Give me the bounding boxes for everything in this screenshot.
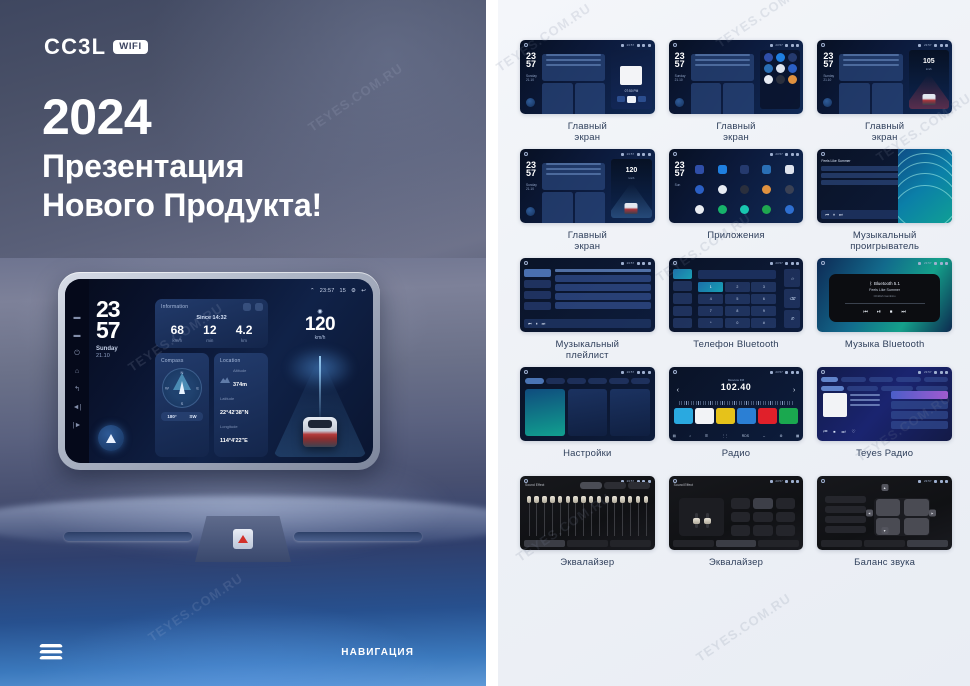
latitude-label: Latitude xyxy=(220,396,262,401)
back-icon[interactable] xyxy=(796,371,799,374)
call-actions[interactable]: ☆ ⌫ ✆ xyxy=(784,269,800,328)
dialpad-key[interactable]: 4 xyxy=(698,294,723,304)
eq-band-slider[interactable] xyxy=(635,496,641,536)
dialpad-key[interactable]: * xyxy=(698,318,723,328)
previous-icon[interactable]: ⏮ xyxy=(863,309,868,315)
home-icon[interactable]: ⌂ xyxy=(75,368,79,375)
home-icon[interactable] xyxy=(673,43,677,47)
dialpad-key[interactable]: 6 xyxy=(751,294,776,304)
previous-icon[interactable]: ⏮ xyxy=(823,429,827,435)
gallery-item[interactable]: 23:57 Sound Effect Эквалайзер xyxy=(520,476,655,583)
longitude-value: 114°4'22"E xyxy=(220,438,248,444)
dialpad-key[interactable]: 1 xyxy=(698,282,723,292)
compass-card[interactable]: Compass N E S W xyxy=(155,353,209,457)
eq-icon[interactable]: ⋮⋮ xyxy=(721,434,728,438)
gallery-item[interactable]: 23:57 Feels Like Summer ⏮ ⏸ ⏭ Музыкальны… xyxy=(817,149,952,256)
playlist-sidebar[interactable] xyxy=(524,269,551,310)
app-icon[interactable] xyxy=(762,205,771,214)
info-cards xyxy=(542,51,605,114)
settings-tiles[interactable] xyxy=(525,389,650,436)
gear-icon[interactable] xyxy=(791,153,794,156)
grid-icon[interactable]: ▦ xyxy=(796,434,799,438)
head-unit-screen[interactable]: ▬ ▬ ⏻ ⌂ ↰ ◄| |► ⌃ 23:57 15 xyxy=(65,279,373,463)
stop-icon[interactable]: ⏹ xyxy=(833,429,835,435)
rds-icon[interactable]: RDS xyxy=(742,434,749,438)
information-card[interactable]: Information Since 14:32 xyxy=(155,299,268,348)
app-icon[interactable] xyxy=(740,205,749,214)
back-icon[interactable] xyxy=(648,371,651,374)
eq-band-slider[interactable] xyxy=(627,496,633,536)
eq-band-slider[interactable] xyxy=(526,496,532,536)
status-bar: 23:57 xyxy=(770,43,800,47)
playback-controls[interactable]: ⏮ ⏹ ⏭ ♡ xyxy=(823,429,855,435)
volume-icon xyxy=(785,262,788,265)
app-icon[interactable] xyxy=(785,165,794,174)
volume-icon xyxy=(934,371,937,374)
gear-icon[interactable] xyxy=(791,371,794,374)
eq-presets[interactable] xyxy=(580,482,650,489)
balance-presets[interactable] xyxy=(825,496,865,536)
status-bar: 23:57 xyxy=(621,370,651,374)
hud-speed-unit: km/h xyxy=(611,177,651,180)
thumbnail-screen[interactable]: 23:57 2357 Sunday21.10 120 km/h xyxy=(520,149,655,223)
hud-widget[interactable]: ◉ 120 km/h xyxy=(274,299,366,457)
previous-icon[interactable]: ⏮ xyxy=(528,321,532,326)
back-icon[interactable] xyxy=(648,44,651,47)
dashboard-photo: ▬ ▬ ⏻ ⌂ ↰ ◄| |► ⌃ 23:57 15 xyxy=(0,258,486,686)
band-icon[interactable]: ▤ xyxy=(673,434,676,438)
gear-icon[interactable]: ⚙ xyxy=(351,288,356,294)
track-list[interactable] xyxy=(555,269,651,309)
app-icon[interactable] xyxy=(776,64,785,73)
app-icon[interactable] xyxy=(776,53,785,62)
status-bar: 23:57 xyxy=(621,43,651,47)
hud-speed: 105 xyxy=(909,58,949,65)
gallery-item-caption: Главныйэкран xyxy=(865,121,904,147)
car-illustration xyxy=(625,203,638,214)
dialpad-key[interactable]: 0 xyxy=(725,318,750,328)
eq-band-slider[interactable] xyxy=(557,496,563,536)
gallery-item[interactable]: 23:57 ⏮ ⏹ ⏭ ♡Teyes Радио xyxy=(817,367,952,474)
home-icon[interactable] xyxy=(524,261,528,265)
clock-widget: 2357 xyxy=(675,161,685,178)
clock-minutes: 57 xyxy=(96,320,149,341)
back-icon[interactable] xyxy=(945,262,948,265)
gear-icon[interactable] xyxy=(791,44,794,47)
hardware-button-rail[interactable]: ▬ ▬ ⏻ ⌂ ↰ ◄| |► xyxy=(65,279,89,463)
volume-icon xyxy=(637,44,640,47)
previous-icon[interactable]: ⏮ xyxy=(825,212,829,217)
dialpad-key[interactable]: # xyxy=(751,318,776,328)
app-grid[interactable] xyxy=(689,159,801,219)
balance-left-icon[interactable]: ◂ xyxy=(866,510,873,517)
status-bar: 23:57 xyxy=(621,152,651,156)
status-bar: ⌃ 23:57 15 ⚙ ↩ xyxy=(96,285,366,296)
app-icon[interactable] xyxy=(740,165,749,174)
wifi-icon xyxy=(770,44,773,47)
volume-icon xyxy=(785,44,788,47)
gallery-item[interactable]: 23:57 ᛒ Bluetooth 5.1 Feels Like Summer … xyxy=(817,258,952,365)
gallery-item[interactable]: 23:57 ▴ ▾ ◂ ▸ Баланс звука xyxy=(817,476,952,583)
app-icon[interactable] xyxy=(764,64,773,73)
status-bar: 23:57 xyxy=(918,43,948,47)
gallery-item[interactable]: 23:57 2357 Sunday21.10 105 km/h Главныйэ… xyxy=(817,40,952,147)
app-icon[interactable] xyxy=(762,185,771,194)
pause-icon[interactable]: ⏸ xyxy=(833,212,835,217)
app-icon[interactable] xyxy=(776,75,785,84)
stat-time: 12 min xyxy=(203,324,216,343)
wifi-icon xyxy=(770,371,773,374)
thumbnail-screen[interactable]: 23:57 2357 Sunday21.10 xyxy=(669,40,804,114)
stop-icon[interactable]: ⏹ xyxy=(890,309,893,315)
eq-band-slider[interactable] xyxy=(534,496,540,536)
app-icon[interactable] xyxy=(764,53,773,62)
wifi-icon xyxy=(621,371,624,374)
eq-band-slider[interactable] xyxy=(565,496,571,536)
status-bar: 23:57 xyxy=(918,261,948,265)
headline-line1: Презентация xyxy=(42,147,322,186)
app-icon[interactable] xyxy=(788,64,797,73)
dialpad-key[interactable]: 5 xyxy=(725,294,750,304)
eq-band-slider[interactable] xyxy=(620,496,626,536)
navigation-button[interactable] xyxy=(526,98,535,107)
gear-icon[interactable] xyxy=(642,371,645,374)
expand-icon[interactable] xyxy=(255,303,263,311)
gallery-item[interactable]: 23:57 123456789*0# ☆ ⌫ ✆Телефон Bluetoot… xyxy=(669,258,804,365)
settings-icon[interactable]: ⚙ xyxy=(779,434,782,438)
next-icon[interactable]: ⏭ xyxy=(542,321,546,326)
clock-widget: 2357 xyxy=(823,52,833,69)
app-icon[interactable] xyxy=(785,185,794,194)
eq-preset-button[interactable] xyxy=(776,498,796,509)
refresh-icon[interactable] xyxy=(243,303,251,311)
thumbnail-screen[interactable]: 23:57 ⏮ ⏹ ⏭ ♡ xyxy=(817,367,952,441)
navigation-button[interactable] xyxy=(823,98,832,107)
gallery-item-caption: Главныйэкран xyxy=(716,121,755,147)
compass-point-w: W xyxy=(165,386,169,391)
play-pause-icon[interactable]: ⏯ xyxy=(877,309,881,315)
home-icon[interactable] xyxy=(673,370,677,374)
dialpad-key[interactable]: 7 xyxy=(698,306,723,316)
eq-tabs[interactable] xyxy=(821,540,948,547)
wifi-tile[interactable] xyxy=(525,389,565,436)
app-icon[interactable] xyxy=(718,205,727,214)
volume-icon xyxy=(785,371,788,374)
eq-tabs[interactable] xyxy=(673,540,800,547)
home-icon[interactable] xyxy=(524,152,528,156)
back-icon[interactable] xyxy=(648,153,651,156)
preset-stations[interactable] xyxy=(674,408,799,424)
next-icon[interactable]: ⏭ xyxy=(839,212,843,217)
gallery-item-caption: Радио xyxy=(722,448,750,474)
balance-right-icon[interactable]: ▸ xyxy=(929,510,936,517)
pause-icon[interactable]: ⏸ xyxy=(536,321,538,326)
more-tile[interactable] xyxy=(610,389,650,436)
back-icon[interactable] xyxy=(945,371,948,374)
eq-preset-button[interactable] xyxy=(753,525,773,536)
wifi-icon xyxy=(770,262,773,265)
eq-preset-button[interactable] xyxy=(753,498,773,509)
app-icon[interactable] xyxy=(788,75,797,84)
eq-band-slider[interactable] xyxy=(643,496,649,536)
list-icon[interactable]: ☰ xyxy=(705,434,708,438)
compass-point-e: E xyxy=(196,386,199,391)
phone-tabs[interactable] xyxy=(673,269,692,328)
gallery-item-caption: Музыкальныйплейлист xyxy=(555,339,619,365)
back-icon[interactable] xyxy=(648,262,651,265)
effect-buttons[interactable] xyxy=(731,498,796,536)
eq-band-slider[interactable] xyxy=(604,496,610,536)
eq-band-slider[interactable] xyxy=(542,496,548,536)
frequency-scale[interactable] xyxy=(679,401,794,405)
home-icon[interactable] xyxy=(821,152,825,156)
wifi-icon xyxy=(621,262,624,265)
wifi-badge: WIFI xyxy=(113,40,147,55)
back-icon[interactable] xyxy=(796,262,799,265)
app-icon[interactable] xyxy=(695,165,704,174)
compass-point-n: N xyxy=(181,370,184,375)
gallery-item-caption: Приложения xyxy=(707,230,765,256)
fader-sliders[interactable] xyxy=(679,498,725,536)
navigation-button[interactable] xyxy=(526,207,535,216)
app-icon[interactable] xyxy=(695,185,704,194)
hud-speed-unit: km/h xyxy=(909,68,949,71)
category-tabs[interactable] xyxy=(821,377,948,382)
thumbnail-screen[interactable]: 23:57 Feels Like Summer ⏮ ⏸ ⏭ xyxy=(817,149,952,223)
home-icon[interactable] xyxy=(821,479,825,483)
compass-dial: N E S W xyxy=(162,368,202,408)
clock-date: Sunday21.10 xyxy=(526,183,537,191)
home-icon[interactable] xyxy=(821,261,825,265)
gallery-item[interactable]: 23:57 Moscow FM 102.40 ‹ › ▤ ⌕ ☰ ⋮⋮ RDS … xyxy=(669,367,804,474)
playback-controls[interactable]: ⏮ ⏯ ⏹ ⏭ xyxy=(863,309,906,315)
thumbnail-screen[interactable]: 23:57 123456789*0# ☆ ⌫ ✆ xyxy=(669,258,804,332)
gear-icon[interactable] xyxy=(642,44,645,47)
thumbnail-screen[interactable]: 23:57 Moscow FM 102.40 ‹ › ▤ ⌕ ☰ ⋮⋮ RDS … xyxy=(669,367,804,441)
location-card[interactable]: Location Altitude 374m xyxy=(214,353,268,457)
balance-up-icon[interactable]: ▴ xyxy=(881,484,888,491)
eq-preset-button[interactable] xyxy=(731,512,751,523)
backspace-icon[interactable]: ⌫ xyxy=(784,289,800,307)
watermark: TEYES.COM.RU xyxy=(693,590,793,664)
app-icon[interactable] xyxy=(740,185,749,194)
station-logo[interactable] xyxy=(716,408,735,424)
status-bar: 23:57 xyxy=(770,479,800,483)
hazard-triangle-icon xyxy=(238,535,248,543)
eq-band-slider[interactable] xyxy=(612,496,618,536)
dialpad[interactable]: 123456789*0# xyxy=(698,282,776,328)
gallery-item[interactable]: 23:57 2357 Sun Приложения xyxy=(669,149,804,256)
app-icon[interactable] xyxy=(788,53,797,62)
gallery-item[interactable]: 23:57 Настройки xyxy=(520,367,655,474)
app-shortcuts[interactable] xyxy=(760,50,800,109)
eq-preset-button[interactable] xyxy=(731,525,751,536)
gear-icon[interactable] xyxy=(940,480,943,483)
home-icon[interactable] xyxy=(673,261,677,265)
eq-band-slider[interactable] xyxy=(573,496,579,536)
clock-date: 21.10 xyxy=(96,353,149,359)
eq-title: Sound Effect xyxy=(674,483,693,487)
volume-icon xyxy=(934,480,937,483)
gallery-item[interactable]: 23:57 ⏮ ⏸ ⏭Музыкальныйплейлист xyxy=(520,258,655,365)
eject-icon[interactable]: ▬ xyxy=(74,332,81,339)
gear-icon[interactable] xyxy=(791,262,794,265)
back-icon[interactable] xyxy=(796,480,799,483)
thumbnail-screen[interactable]: 23:57 Sound Effect xyxy=(669,476,804,550)
carplay-tile[interactable] xyxy=(568,389,608,436)
back-icon[interactable] xyxy=(945,44,948,47)
clock-date: Sun xyxy=(675,183,681,187)
back-icon[interactable] xyxy=(796,153,799,156)
gallery-item[interactable]: 23:57 Sound Effect Эквалайзер xyxy=(669,476,804,583)
latitude-value: 22°42'38"N xyxy=(220,410,248,416)
eq-band-slider[interactable] xyxy=(588,496,594,536)
seek-down-icon[interactable]: ‹ xyxy=(677,387,679,394)
gallery-item-caption: Эквалайзер xyxy=(709,557,763,583)
eq-preset-button[interactable] xyxy=(776,512,796,523)
thumbnail-screen[interactable]: 23:57 xyxy=(520,367,655,441)
back-icon[interactable] xyxy=(945,480,948,483)
eq-band-slider[interactable] xyxy=(581,496,587,536)
eq-band-slider[interactable] xyxy=(596,496,602,536)
radio-toolbar[interactable]: ▤ ⌕ ☰ ⋮⋮ RDS ↔ ⚙ ▦ xyxy=(673,434,800,438)
station-logo[interactable] xyxy=(674,408,693,424)
home-icon[interactable] xyxy=(524,370,528,374)
volume-down-icon[interactable]: ◄| xyxy=(73,404,82,411)
station-list[interactable] xyxy=(891,391,948,437)
settings-tabs[interactable] xyxy=(525,378,650,384)
balance-down-icon[interactable]: ▾ xyxy=(881,527,888,534)
track-title: Feels Like Summer xyxy=(869,288,900,292)
thumbnail-screen[interactable]: 23:57 ᛒ Bluetooth 5.1 Feels Like Summer … xyxy=(817,258,952,332)
station-logo[interactable] xyxy=(737,408,756,424)
navigation-label: НАВИГАЦИЯ xyxy=(341,647,414,658)
thumbnail-screen[interactable]: 23:57 2357 Sunday21.10 105 km/h xyxy=(817,40,952,114)
bluetooth-player[interactable]: ᛒ Bluetooth 5.1 Feels Like Summer Childi… xyxy=(829,274,940,322)
thumbnail-screen[interactable]: 23:57 ▴ ▾ ◂ ▸ xyxy=(817,476,952,550)
station-logo[interactable] xyxy=(758,408,777,424)
wifi-icon xyxy=(918,44,921,47)
app-icon[interactable] xyxy=(762,165,771,174)
hud-speed: 120 xyxy=(611,167,651,174)
app-icon[interactable] xyxy=(718,185,727,194)
home-icon[interactable] xyxy=(821,370,825,374)
wifi-icon: ⌃ xyxy=(310,288,315,294)
compass-direction: SW xyxy=(189,414,196,419)
seek-up-icon[interactable]: › xyxy=(793,387,795,394)
info-cards xyxy=(839,51,902,114)
thumbnail-screen[interactable]: 23:57 2357 Sun xyxy=(669,149,804,223)
gallery-item[interactable]: 23:57 2357 Sunday21.10 120 km/h Главныйэ… xyxy=(520,149,655,256)
mountain-icon xyxy=(220,376,230,383)
favorite-icon[interactable]: ♡ xyxy=(851,429,855,435)
eq-preset-button[interactable] xyxy=(776,525,796,536)
gear-icon[interactable] xyxy=(940,44,943,47)
thumbnail-screen[interactable]: 23:57 Sound Effect xyxy=(520,476,655,550)
media-widget[interactable]: 07:50 PM xyxy=(611,50,651,109)
station-logo[interactable] xyxy=(695,408,714,424)
thumbnail-screen[interactable]: 23:57 2357 Sunday21.10 07:50 PM xyxy=(520,40,655,114)
hazard-button[interactable] xyxy=(233,529,253,549)
eq-band-slider[interactable] xyxy=(549,496,555,536)
navigation-button[interactable] xyxy=(675,98,684,107)
hud-speed: 120 xyxy=(274,315,366,334)
clock-widget: 2357 xyxy=(526,161,536,178)
tune-icon[interactable]: ↔ xyxy=(763,434,766,438)
eq-preset-button[interactable] xyxy=(731,498,751,509)
bluetooth-icon: ᛒ xyxy=(869,281,872,286)
compass-point-s: S xyxy=(181,401,184,406)
back-icon[interactable] xyxy=(796,44,799,47)
altitude-value: 374m xyxy=(233,382,247,388)
volume-icon xyxy=(785,153,788,156)
eq-tabs[interactable] xyxy=(524,540,651,547)
thumbnail-screen[interactable]: 23:57 ⏮ ⏸ ⏭ xyxy=(520,258,655,332)
power-icon[interactable]: ⏻ xyxy=(74,350,80,357)
number-field[interactable] xyxy=(698,270,776,279)
stat-speed: 68 km/h xyxy=(171,324,184,343)
search-icon[interactable]: ⌕ xyxy=(689,434,691,438)
dialpad-key[interactable]: 3 xyxy=(751,282,776,292)
favorite-icon[interactable]: ☆ xyxy=(784,269,800,287)
playback-controls[interactable]: ⏮ ⏸ ⏭ xyxy=(524,319,651,328)
wifi-icon xyxy=(918,480,921,483)
back-icon[interactable]: ↰ xyxy=(74,386,80,393)
seek-bar[interactable] xyxy=(845,303,925,304)
hud-widget[interactable]: 105 km/h xyxy=(909,50,949,109)
mute-icon[interactable]: ▬ xyxy=(74,314,81,321)
dialpad-key[interactable]: 2 xyxy=(725,282,750,292)
equalizer-bands[interactable] xyxy=(526,496,649,536)
gear-icon[interactable] xyxy=(940,262,943,265)
app-icon[interactable] xyxy=(718,165,727,174)
clock-day: Sunday xyxy=(96,346,149,352)
hero-footer: НАВИГАЦИЯ xyxy=(0,630,486,660)
location-title: Location xyxy=(220,358,262,364)
dialpad-key[interactable]: 8 xyxy=(725,306,750,316)
gallery-item[interactable]: 23:57 2357 Sunday21.10 Главныйэкран xyxy=(669,40,804,147)
eq-preset-button[interactable] xyxy=(753,512,773,523)
screenshot-gallery: 23:57 2357 Sunday21.10 07:50 PM Главныйэ… xyxy=(486,0,970,686)
clock-widget: 2357 xyxy=(526,52,536,69)
call-icon[interactable]: ✆ xyxy=(784,310,800,328)
gallery-item[interactable]: 23:57 2357 Sunday21.10 07:50 PM Главныйэ… xyxy=(520,40,655,147)
track-artist: Childish Gambino xyxy=(874,294,896,298)
gear-icon[interactable] xyxy=(642,262,645,265)
air-vent-right xyxy=(294,532,422,541)
home-icon[interactable] xyxy=(821,43,825,47)
gallery-item-caption: Эквалайзер xyxy=(560,557,614,583)
app-icon[interactable] xyxy=(695,205,704,214)
station-logo[interactable] xyxy=(779,408,798,424)
navigation-button[interactable] xyxy=(98,425,124,451)
home-icon[interactable] xyxy=(524,43,528,47)
back-icon[interactable]: ↩ xyxy=(361,288,366,294)
app-icon[interactable] xyxy=(785,205,794,214)
hud-widget[interactable]: 120 km/h xyxy=(611,159,651,218)
dialpad-key[interactable]: 9 xyxy=(751,306,776,316)
home-icon[interactable] xyxy=(673,152,677,156)
app-icon[interactable] xyxy=(764,75,773,84)
next-icon[interactable]: ⏭ xyxy=(901,309,906,315)
volume-icon xyxy=(934,44,937,47)
gear-icon[interactable] xyxy=(642,153,645,156)
gear-icon[interactable] xyxy=(791,480,794,483)
gear-icon[interactable] xyxy=(940,371,943,374)
volume-up-icon[interactable]: |► xyxy=(73,422,82,429)
next-icon[interactable]: ⏭ xyxy=(841,429,845,435)
volume-icon xyxy=(637,262,640,265)
